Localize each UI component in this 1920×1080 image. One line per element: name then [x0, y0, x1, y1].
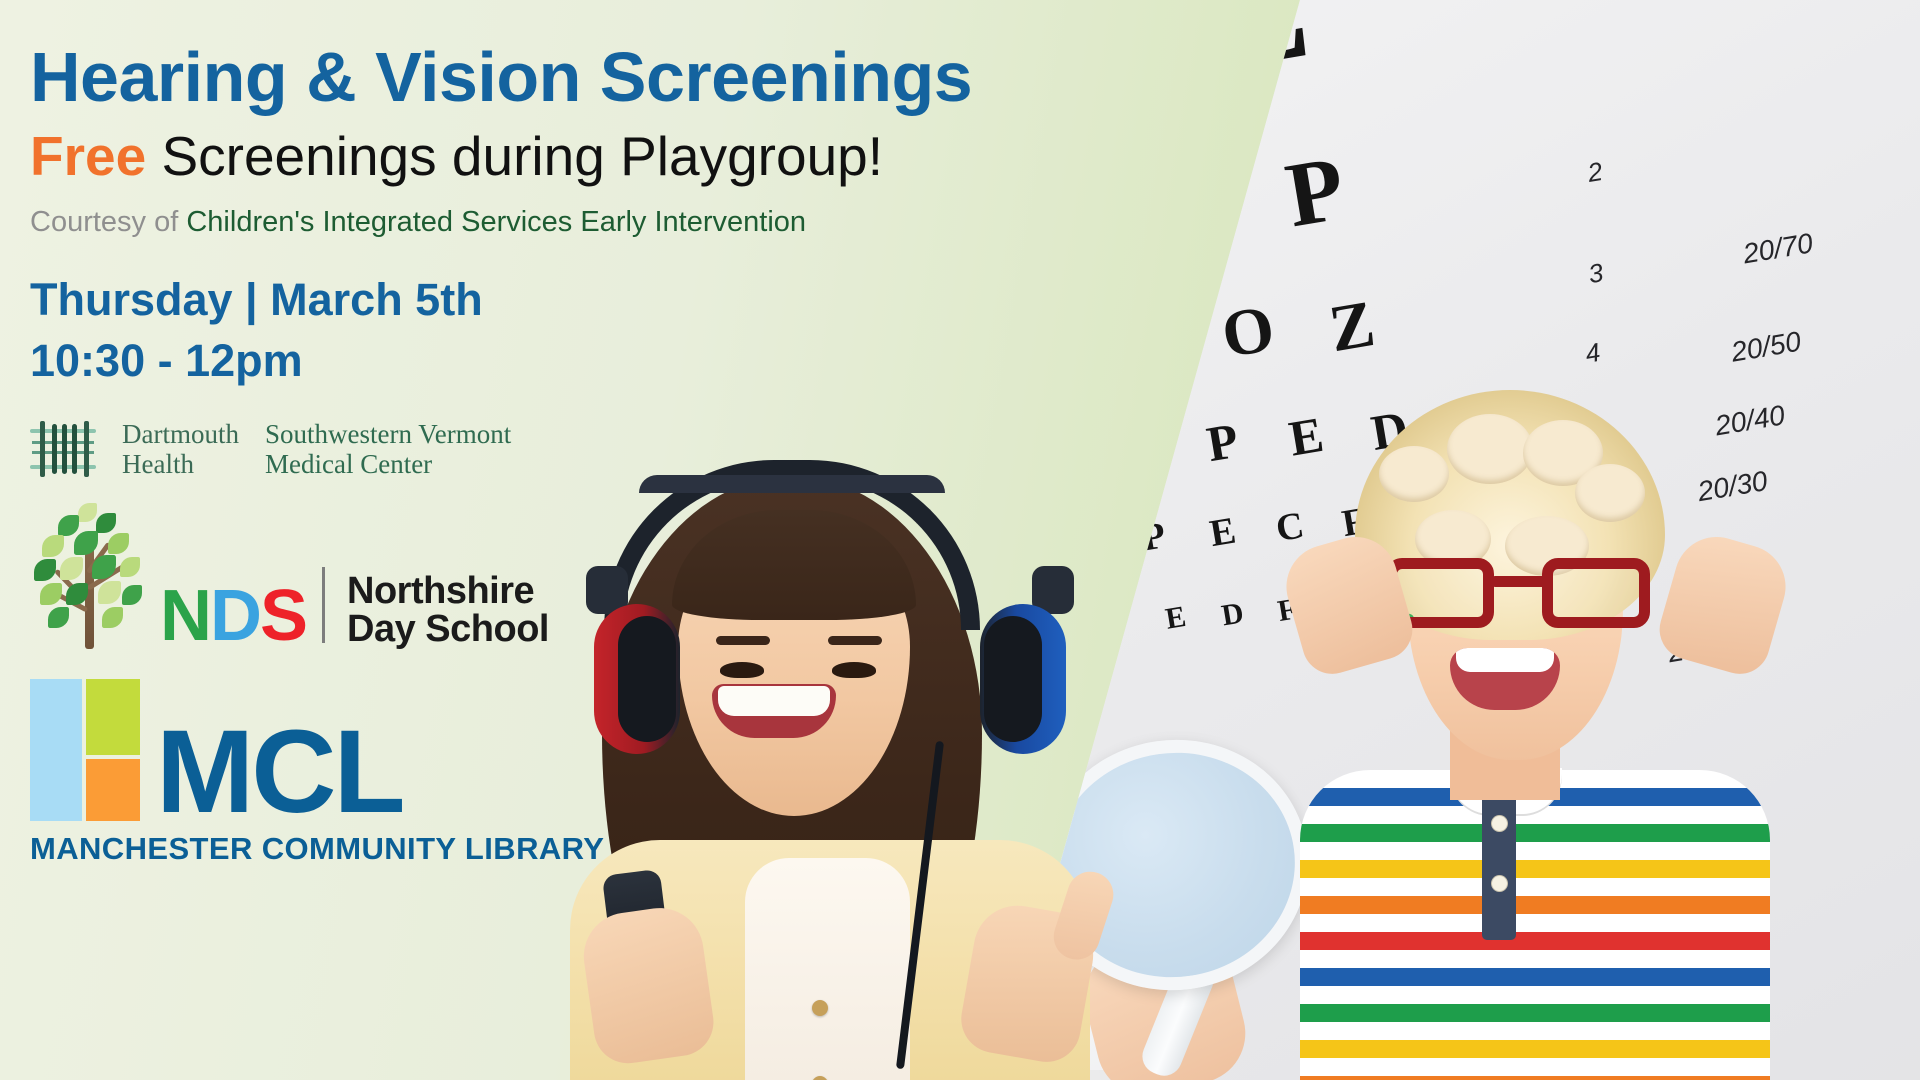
free-highlight: Free: [30, 125, 146, 187]
mcl-block-blue: [30, 679, 82, 821]
mcl-logo-row: MCL: [30, 679, 1100, 821]
dartmouth-line-2: Health: [122, 449, 239, 479]
eye-chart-letter: P: [1204, 420, 1240, 464]
courtesy-prefix: Courtesy of: [30, 206, 178, 238]
poster-text-block: Hearing & Vision Screenings Free Screeni…: [0, 0, 1100, 867]
cardigan-button: [812, 1000, 828, 1016]
mcl-color-blocks-icon: [30, 679, 140, 821]
page-title: Hearing & Vision Screenings: [30, 40, 1100, 114]
nds-wordmark: Northshire Day School: [347, 572, 549, 650]
courtesy-organization: Children's Integrated Services Early Int…: [186, 206, 806, 238]
child-with-glasses: [1300, 390, 1770, 1080]
eyeglass-bridge: [1490, 576, 1548, 587]
mcl-initials: MCL: [156, 724, 403, 821]
eye-chart-acuity-label: 20/70: [1741, 229, 1815, 268]
mcl-wordmark: MANCHESTER COMMUNITY LIBRARY: [30, 831, 1100, 867]
event-date: Thursday | March 5th: [30, 273, 1100, 328]
eye-chart-acuity-label: 20/50: [1729, 328, 1803, 367]
sponsor-logos: Dartmouth Health Southwestern Vermont Me…: [30, 419, 1100, 867]
nds-divider: [322, 567, 325, 643]
tree-icon: [30, 499, 148, 649]
nds-name-line-1: Northshire: [347, 572, 549, 611]
white-tshirt: [745, 858, 910, 1080]
svmc-line-2: Medical Center: [265, 449, 511, 479]
dartmouth-health-wordmark: Dartmouth Health: [122, 419, 239, 479]
courtesy-line: Courtesy of Children's Integrated Servic…: [30, 206, 1100, 239]
event-time: 10:30 - 12pm: [30, 334, 1100, 389]
eye-chart-row-number: 2: [1586, 158, 1605, 186]
mcl-block-orange: [86, 759, 140, 821]
poster-canvas: EFPTOZLPEDPECFDEDFCZP2345678920/7020/502…: [0, 0, 1920, 1080]
logo-dartmouth-health: Dartmouth Health Southwestern Vermont Me…: [30, 419, 1100, 479]
red-eyeglasses: [1386, 558, 1650, 630]
dartmouth-line-1: Dartmouth: [122, 419, 239, 449]
nds-letter-s: S: [260, 576, 306, 656]
shirt-button: [1492, 816, 1507, 831]
nds-letter-n: N: [160, 576, 210, 656]
logo-northshire-day-school: NDS Northshire Day School: [30, 499, 1100, 649]
shirt-button: [1492, 876, 1507, 891]
subtitle-rest: Screenings during Playgroup!: [161, 125, 883, 187]
eyeglass-lens-right: [1542, 558, 1650, 628]
shirt-placket: [1482, 790, 1516, 940]
rainbow-striped-shirt: [1300, 770, 1770, 1080]
eye-chart-letter: D: [1220, 601, 1245, 628]
eye-chart-letter: E: [1208, 516, 1237, 550]
eye-chart-letter: O: [1219, 303, 1277, 363]
eye-chart-letter: Z: [1326, 298, 1377, 357]
subtitle: Free Screenings during Playgroup!: [30, 126, 1100, 188]
svmc-line-1: Southwestern Vermont: [265, 419, 511, 449]
logo-manchester-community-library: MCL MANCHESTER COMMUNITY LIBRARY: [30, 679, 1100, 867]
eye-chart-row-number: 4: [1584, 339, 1603, 367]
svmc-wordmark: Southwestern Vermont Medical Center: [265, 419, 511, 479]
nds-name-line-2: Day School: [347, 610, 549, 649]
mcl-block-lime: [86, 679, 140, 755]
eye-chart-letter: P: [1282, 152, 1348, 234]
eye-chart-letter: E: [1164, 605, 1187, 632]
nds-letter-d: D: [210, 576, 260, 656]
dartmouth-grid-icon: [30, 421, 96, 477]
nds-initials: NDS: [160, 583, 306, 649]
eye-chart-row-number: 3: [1586, 259, 1605, 287]
